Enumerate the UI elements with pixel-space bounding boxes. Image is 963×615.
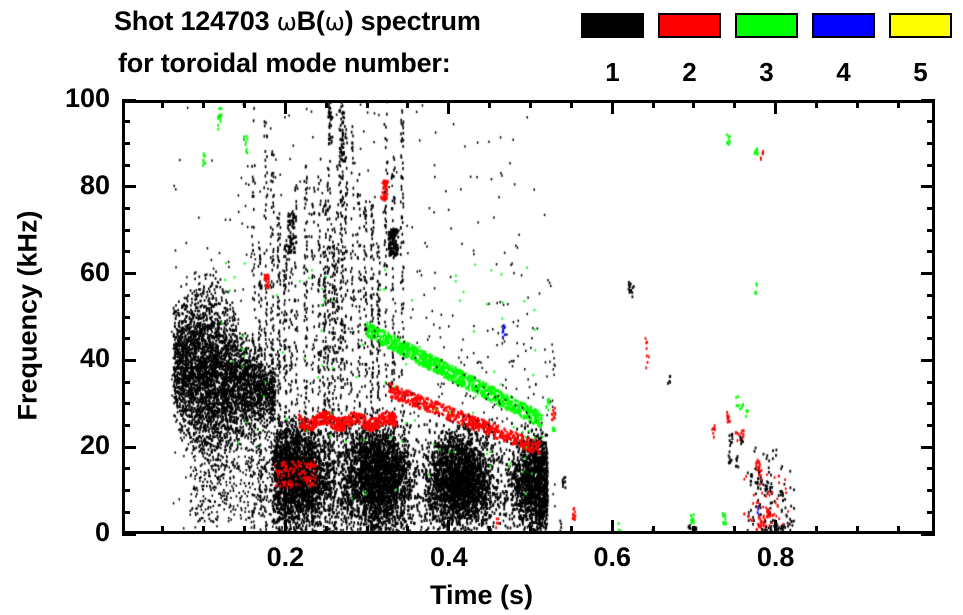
legend-label-2: 2 (658, 59, 721, 85)
mode-number-legend: 12345 (581, 13, 951, 83)
y-tick (122, 120, 130, 123)
y-tick (921, 359, 935, 362)
x-tick (611, 100, 614, 114)
y-tick (927, 164, 935, 167)
x-tick (284, 520, 287, 534)
x-tick (570, 526, 573, 534)
y-tick (122, 272, 136, 275)
legend-swatch-3 (735, 13, 798, 38)
x-tick (856, 100, 859, 108)
x-tick (284, 100, 287, 114)
y-tick-label: 60 (40, 259, 110, 286)
figure-title-line-1: Shot 124703 ωB(ω) spectrum (114, 6, 481, 37)
x-tick (366, 100, 369, 108)
y-tick (927, 229, 935, 232)
y-tick (122, 402, 130, 405)
y-tick (122, 142, 130, 145)
y-tick (122, 250, 130, 253)
y-axis-title: Frequency (kHz) (13, 166, 44, 466)
x-tick (488, 100, 491, 108)
x-tick (406, 100, 409, 108)
title-spectrum-text: ) spectrum (345, 6, 481, 36)
y-tick (122, 467, 130, 470)
x-tick (652, 100, 655, 108)
legend-label-4: 4 (812, 59, 875, 85)
x-tick (366, 526, 369, 534)
y-tick (921, 99, 935, 102)
y-tick (122, 359, 136, 362)
plot-area (122, 100, 935, 534)
figure-title-line-2: for toroidal mode number: (118, 48, 451, 79)
x-tick (856, 526, 859, 534)
legend-swatch-1 (581, 13, 644, 38)
legend-label-5: 5 (889, 59, 952, 85)
y-tick (927, 207, 935, 210)
y-tick-label: 20 (40, 432, 110, 459)
y-tick (122, 381, 130, 384)
y-tick (927, 294, 935, 297)
x-tick (406, 526, 409, 534)
spectrogram-figure: Shot 124703 ωB(ω) spectrum for toroidal … (0, 0, 963, 615)
spectrogram-canvas (122, 100, 935, 534)
x-tick (243, 100, 246, 108)
x-tick-label: 0.2 (240, 544, 330, 571)
y-tick (122, 207, 130, 210)
x-tick (611, 520, 614, 534)
x-tick (325, 100, 328, 108)
y-tick (122, 294, 130, 297)
y-tick-label: 40 (40, 345, 110, 372)
legend-label-1: 1 (581, 59, 644, 85)
x-tick (202, 526, 205, 534)
legend-swatch-5 (889, 13, 952, 38)
x-tick (529, 526, 532, 534)
y-tick (927, 316, 935, 319)
x-tick (774, 520, 777, 534)
y-tick (927, 511, 935, 514)
title-shot-text: Shot 124703 (114, 6, 277, 36)
x-tick (488, 526, 491, 534)
x-tick-label: 0.8 (731, 544, 821, 571)
x-tick (897, 100, 900, 108)
y-tick (122, 446, 136, 449)
x-tick (243, 526, 246, 534)
title-b-text: B( (297, 6, 325, 36)
omega-symbol-2: ω (325, 8, 345, 36)
y-tick (927, 489, 935, 492)
y-tick (122, 337, 130, 340)
x-tick (897, 526, 900, 534)
x-tick (815, 100, 818, 108)
y-tick (122, 185, 136, 188)
x-tick (692, 526, 695, 534)
y-tick (122, 229, 130, 232)
y-tick (122, 424, 130, 427)
x-tick (529, 100, 532, 108)
y-tick (122, 99, 136, 102)
x-tick-label: 0.6 (567, 544, 657, 571)
x-tick (774, 100, 777, 114)
y-tick-label: 0 (40, 519, 110, 546)
x-tick (447, 520, 450, 534)
y-tick (927, 142, 935, 145)
y-tick-label: 80 (40, 172, 110, 199)
y-tick (927, 120, 935, 123)
y-tick (122, 316, 130, 319)
legend-swatch-2 (658, 13, 721, 38)
y-tick (122, 489, 130, 492)
x-axis-title: Time (s) (0, 580, 963, 611)
y-tick (122, 164, 130, 167)
y-tick (122, 533, 136, 536)
x-tick (202, 100, 205, 108)
legend-label-3: 3 (735, 59, 798, 85)
y-tick (927, 337, 935, 340)
y-tick (921, 533, 935, 536)
y-tick (921, 446, 935, 449)
y-tick (927, 250, 935, 253)
y-tick (927, 402, 935, 405)
y-tick (921, 185, 935, 188)
x-tick (570, 100, 573, 108)
x-tick (652, 526, 655, 534)
x-tick (447, 100, 450, 114)
x-tick (733, 526, 736, 534)
omega-symbol-1: ω (277, 8, 297, 36)
y-tick (927, 381, 935, 384)
y-tick (122, 511, 130, 514)
legend-swatch-4 (812, 13, 875, 38)
y-tick (927, 467, 935, 470)
x-tick (815, 526, 818, 534)
y-tick-label: 100 (40, 85, 110, 112)
x-tick (161, 526, 164, 534)
y-tick (927, 424, 935, 427)
x-tick (733, 100, 736, 108)
x-tick (325, 526, 328, 534)
y-tick (921, 272, 935, 275)
x-tick (161, 100, 164, 108)
x-tick (692, 100, 695, 108)
x-tick-label: 0.4 (404, 544, 494, 571)
